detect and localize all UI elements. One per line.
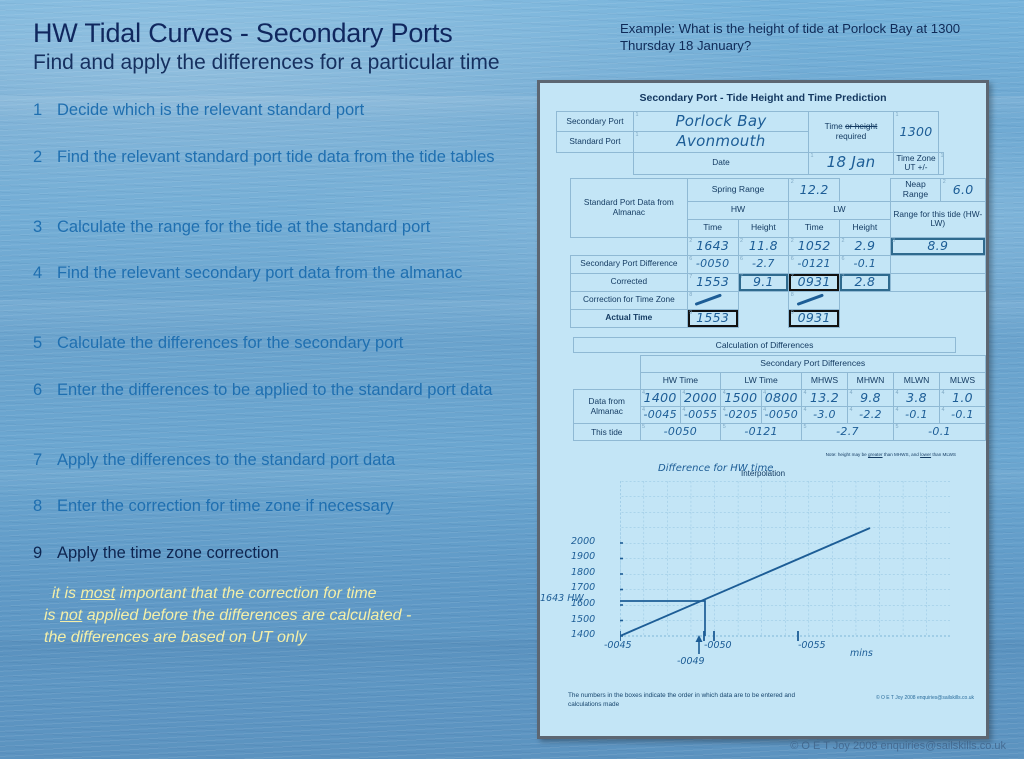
order-marker: 4: [850, 407, 853, 413]
actual-lw-time-cell[interactable]: 90931: [789, 309, 840, 327]
spring-range-label: Spring Range: [687, 179, 788, 202]
table-row: Corrected 71553 79.1 70931 72.8: [571, 273, 986, 291]
almanac-hw1: 1400: [644, 390, 677, 405]
empty-cell: [840, 309, 891, 327]
almanac-lw2-cell[interactable]: 40800: [761, 390, 801, 407]
step-8: 8 Enter the correction for time zone if …: [33, 496, 503, 516]
order-marker: 4: [942, 390, 945, 396]
step-7-text: Apply the differences to the standard po…: [57, 450, 503, 470]
step-4-number: 4: [33, 263, 51, 283]
y-tick-2000: 2000: [571, 536, 595, 547]
difference-lw-time: -0121: [797, 257, 830, 270]
slide-watermark: © O E T Joy 2008 enquiries@sailskills.co…: [790, 740, 1006, 752]
this-tide-label: This tide: [574, 424, 641, 441]
worksheet-title: Secondary Port - Tide Height and Time Pr…: [540, 92, 986, 104]
almanac-mhws-cell[interactable]: 413.2: [802, 390, 848, 407]
y-tick-1900: 1900: [571, 551, 595, 562]
caution-note: it is most important that the correction…: [52, 583, 522, 649]
spacer-cell: [571, 237, 688, 255]
step-9-number: 9: [33, 543, 51, 563]
slide-title-sub: Find and apply the differences for a par…: [33, 50, 593, 75]
slash-mark-icon: [791, 294, 837, 306]
diff-hw2-cell[interactable]: 4-0055: [680, 407, 720, 424]
empty-cell: [840, 291, 891, 309]
this-tide-hw-height-cell[interactable]: 5-2.7: [802, 424, 894, 441]
col-hw-time: HW Time: [640, 373, 721, 390]
almanac-hw2: 2000: [684, 390, 717, 405]
interpolation-svg: [620, 481, 950, 667]
standard-port-value: Avonmouth: [676, 132, 765, 150]
order-marker: 5: [723, 424, 726, 430]
order-marker: 1: [941, 153, 944, 159]
range-for-tide-value-cell[interactable]: 38.9: [890, 237, 985, 255]
height-range-note: Note: height may be greater than MHWS, a…: [770, 452, 956, 457]
almanac-lw1-cell[interactable]: 41500: [721, 390, 761, 407]
corrected-lw-time-cell[interactable]: 70931: [789, 273, 840, 291]
order-marker: 2: [689, 238, 692, 244]
diff-mlwn: -0.1: [905, 408, 928, 421]
graph-grid: [620, 481, 950, 636]
step-8-number: 8: [33, 496, 51, 516]
table-row: Secondary Port Differences: [574, 356, 986, 373]
corrected-hw-time-cell[interactable]: 71553: [687, 273, 738, 291]
order-marker: 7: [740, 274, 743, 280]
diff-mhwn: -2.2: [859, 408, 882, 421]
range-for-tide-label: Range for this tide (HW-LW): [890, 201, 985, 237]
order-marker: 1: [636, 112, 639, 118]
order-marker: 1: [896, 112, 899, 118]
step-6: 6 Enter the differences to be applied to…: [33, 380, 503, 400]
almanac-hw-time-cell[interactable]: 21643: [687, 237, 738, 255]
order-marker: 9: [791, 310, 794, 316]
date-value: 18 Jan: [827, 153, 876, 171]
standard-port-value-cell[interactable]: 1 Avonmouth: [634, 132, 809, 152]
step-9: 9 Apply the time zone correction: [33, 543, 503, 563]
order-marker: 5: [896, 424, 899, 430]
order-marker: 5: [804, 424, 807, 430]
order-marker: 5: [642, 424, 645, 430]
corrected-lw-time: 0931: [798, 274, 831, 289]
spring-range-value: 12.2: [800, 182, 829, 197]
almanac-hw1-cell[interactable]: 41400: [640, 390, 680, 407]
spacer-cell: [840, 179, 891, 202]
empty-cell: [738, 309, 789, 327]
this-tide-hw-height: -2.7: [836, 425, 859, 438]
order-marker: 2: [791, 179, 794, 185]
col-lw-time: LW Time: [721, 373, 802, 390]
diff-hw1-cell[interactable]: 4-0045: [640, 407, 680, 424]
order-marker: 4: [642, 407, 645, 413]
timezone-hw-cell[interactable]: 8: [687, 291, 738, 309]
spring-range-value-cell[interactable]: 2 12.2: [789, 179, 840, 202]
table-row: 21643 211.8 21052 22.9 38.9: [571, 237, 986, 255]
interpolation-graph: Difference for HW time 2000 1900 1800 17…: [620, 481, 950, 667]
spacer-cell: [557, 152, 634, 174]
table-row: Correction for Time Zone 8 8: [571, 291, 986, 309]
order-marker: 2: [791, 238, 794, 244]
empty-cell: [890, 309, 985, 327]
lw-height-header: Height: [840, 219, 891, 237]
almanac-label: Standard Port Data from Almanac: [571, 179, 688, 238]
order-marker: 1: [811, 153, 814, 159]
hw-height-header: Height: [738, 219, 789, 237]
date-value-cell[interactable]: 1 18 Jan: [809, 152, 894, 174]
order-marker: 4: [682, 407, 685, 413]
order-marker: 4: [763, 407, 766, 413]
step-6-text: Enter the differences to be applied to t…: [57, 380, 503, 400]
this-tide-hw: -0050: [664, 425, 697, 438]
worksheet-header-table: Secondary Port 1 Porlock Bay Time or hei…: [556, 111, 944, 175]
almanac-lw-height: 2.9: [854, 238, 875, 253]
order-marker: 7: [689, 274, 692, 280]
caution-line-2: is not applied before the differences ar…: [44, 605, 522, 627]
order-marker: 2: [740, 238, 743, 244]
time-required-value: 1300: [899, 124, 932, 139]
time-required-value-cell[interactable]: 1 1300: [894, 112, 939, 153]
x-axis-label: mins: [850, 648, 873, 659]
step-3: 3 Calculate the range for the tide at th…: [33, 217, 523, 237]
actual-lw-time: 0931: [798, 310, 831, 325]
diff-lw1-cell[interactable]: 4-0205: [721, 407, 761, 424]
table-row: This tide 5-0050 5-0121 5-2.7 5-0.1: [574, 424, 986, 441]
order-marker: 7: [791, 274, 794, 280]
almanac-lw1: 1500: [724, 390, 757, 405]
slide-title-main: HW Tidal Curves - Secondary Ports: [33, 18, 593, 48]
this-tide-lw-height-cell[interactable]: 5-0.1: [894, 424, 986, 441]
worksheet-copyright: © O E T Joy 2008 enquiries@sailskills.co…: [876, 695, 974, 701]
order-marker: 2: [943, 179, 946, 185]
step-9-text: Apply the time zone correction: [57, 543, 503, 563]
secondary-port-value-cell[interactable]: 1 Porlock Bay: [634, 112, 809, 132]
step-2-number: 2: [33, 147, 51, 167]
table-row: Date 1 18 Jan Time Zone UT +/- 1: [557, 152, 944, 174]
hw-group-label: HW: [687, 201, 788, 219]
y-tick-1400: 1400: [571, 629, 595, 640]
order-marker: 4: [682, 390, 685, 396]
time-zone-label: Time Zone UT +/-: [894, 152, 939, 174]
order-marker: 4: [642, 390, 645, 396]
corrected-lw-height-cell[interactable]: 72.8: [840, 273, 891, 291]
secondary-difference-label: Secondary Port Difference: [571, 255, 688, 273]
order-marker: 4: [896, 407, 899, 413]
step-1-text: Decide which is the relevant standard po…: [57, 100, 503, 120]
step-4: 4 Find the relevant secondary port data …: [33, 263, 473, 283]
almanac-lw2: 0800: [765, 390, 798, 405]
table-row: Secondary Port Difference 6-0050 6-2.7 6…: [571, 255, 986, 273]
order-marker: 6: [842, 256, 845, 262]
order-marker: 7: [842, 274, 845, 280]
almanac-lw-time: 1052: [798, 238, 831, 253]
corrected-hw-height-cell[interactable]: 79.1: [738, 273, 789, 291]
step-3-number: 3: [33, 217, 51, 237]
x-tick-0045: -0045: [604, 640, 632, 651]
neap-range-value: 6.0: [953, 182, 974, 197]
calculation-of-differences-title: Calculation of Differences: [573, 337, 956, 353]
diff-mlws-cell[interactable]: 4-0.1: [940, 407, 986, 424]
almanac-mlwn-cell[interactable]: 43.8: [894, 390, 940, 407]
range-for-tide-value: 8.9: [927, 238, 948, 253]
almanac-mhws: 13.2: [810, 390, 839, 405]
table-row: Standard Port Data from Almanac Spring R…: [571, 179, 986, 202]
almanac-hw-height-cell[interactable]: 211.8: [738, 237, 789, 255]
order-marker: 4: [763, 390, 766, 396]
table-row: HW Time LW Time MHWS MHWN MLWN MLWS: [574, 373, 986, 390]
difference-lw-height-cell[interactable]: 6-0.1: [840, 255, 891, 273]
empty-cell: [890, 255, 985, 273]
caution-line-1: it is most important that the correction…: [52, 583, 522, 605]
col-mhws: MHWS: [802, 373, 848, 390]
col-mlws: MLWS: [940, 373, 986, 390]
this-tide-hw-cell[interactable]: 5-0050: [640, 424, 721, 441]
difference-hw-height: -2.7: [752, 257, 775, 270]
diff-mlws: -0.1: [951, 408, 974, 421]
lw-group-label: LW: [789, 201, 890, 219]
step-6-number: 6: [33, 380, 51, 400]
hw-time-header: Time: [687, 219, 738, 237]
diff-lw2-cell[interactable]: 4-0050: [761, 407, 801, 424]
step-2-text: Find the relevant standard port tide dat…: [57, 147, 523, 167]
time-zone-value-cell[interactable]: 1: [939, 152, 944, 174]
difference-hw-height-cell[interactable]: 6-2.7: [738, 255, 789, 273]
order-marker: 4: [850, 390, 853, 396]
almanac-lw-time-cell[interactable]: 21052: [789, 237, 840, 255]
col-mlwn: MLWN: [894, 373, 940, 390]
difference-lw-time-cell[interactable]: 6-0121: [789, 255, 840, 273]
step-4-text: Find the relevant secondary port data fr…: [57, 263, 473, 283]
caution-line-3: the differences are based on UT only: [44, 627, 522, 649]
worksheet-panel: Secondary Port - Tide Height and Time Pr…: [537, 80, 989, 739]
worksheet-footnote: The numbers in the boxes indicate the or…: [568, 691, 798, 709]
order-marker: 4: [942, 407, 945, 413]
step-5-number: 5: [33, 333, 51, 353]
slide-title: HW Tidal Curves - Secondary Ports Find a…: [33, 18, 593, 75]
almanac-mhwn-cell[interactable]: 49.8: [848, 390, 894, 407]
almanac-mlwn: 3.8: [906, 390, 927, 405]
actual-time-label: Actual Time: [571, 309, 688, 327]
order-marker: 6: [689, 256, 692, 262]
table-row: Secondary Port 1 Porlock Bay Time or hei…: [557, 112, 944, 132]
empty-cell: [738, 291, 789, 309]
col-mhwn: MHWN: [848, 373, 894, 390]
this-tide-lw-cell[interactable]: 5-0121: [721, 424, 802, 441]
time-required-label: Time or height required: [809, 112, 894, 153]
order-marker: 4: [804, 407, 807, 413]
step-7-number: 7: [33, 450, 51, 470]
this-tide-lw-height: -0.1: [928, 425, 951, 438]
almanac-hw2-cell[interactable]: 42000: [680, 390, 720, 407]
neap-range-label: Neap Range: [890, 179, 941, 202]
spacer-cell: [574, 356, 641, 373]
order-marker: 3: [892, 238, 895, 244]
x-tick-0050: -0050: [704, 640, 732, 651]
date-label: Date: [634, 152, 809, 174]
diff-lw2: -0050: [765, 408, 798, 421]
corrected-hw-time: 1553: [696, 274, 729, 289]
timezone-lw-cell[interactable]: 8: [789, 291, 840, 309]
secondary-port-differences-table: Secondary Port Differences HW Time LW Ti…: [573, 355, 986, 441]
step-7: 7 Apply the differences to the standard …: [33, 450, 503, 470]
y-tick-1600: 1600: [571, 598, 595, 609]
table-row: Data from Almanac 41400 42000 41500 4080…: [574, 390, 986, 407]
order-marker: 4: [896, 390, 899, 396]
diff-mhws-cell[interactable]: 4-3.0: [802, 407, 848, 424]
table-row: Actual Time 91553 90931: [571, 309, 986, 327]
diff-hw2: -0055: [684, 408, 717, 421]
y-tick-1500: 1500: [571, 614, 595, 625]
order-marker: 4: [723, 390, 726, 396]
step-5-text: Calculate the differences for the second…: [57, 333, 503, 353]
timezone-correction-label: Correction for Time Zone: [571, 291, 688, 309]
order-marker: 6: [740, 256, 743, 262]
readoff-arrow-icon: [696, 635, 703, 654]
almanac-lw-height-cell[interactable]: 22.9: [840, 237, 891, 255]
diff-mlwn-cell[interactable]: 4-0.1: [894, 407, 940, 424]
order-marker: 4: [804, 390, 807, 396]
secondary-port-value: Porlock Bay: [675, 112, 766, 130]
step-1: 1 Decide which is the relevant standard …: [33, 100, 503, 120]
spacer-cell: [574, 373, 641, 390]
step-2: 2 Find the relevant standard port tide d…: [33, 147, 523, 167]
order-marker: 9: [689, 310, 692, 316]
y-tick-1800: 1800: [571, 567, 595, 578]
almanac-mlws-cell[interactable]: 41.0: [940, 390, 986, 407]
diff-hw1: -0045: [643, 408, 676, 421]
diff-lw1: -0205: [724, 408, 757, 421]
step-1-number: 1: [33, 100, 51, 120]
difference-lw-height: -0.1: [853, 257, 876, 270]
this-tide-lw: -0121: [744, 425, 777, 438]
neap-range-value-cell[interactable]: 2 6.0: [941, 179, 986, 202]
actual-hw-time-cell[interactable]: 91553: [687, 309, 738, 327]
secondary-port-label: Secondary Port: [557, 112, 634, 132]
lw-time-header: Time: [789, 219, 840, 237]
empty-cell: [890, 291, 985, 309]
order-marker: 6: [791, 256, 794, 262]
time-required-strikethrough: or height: [845, 121, 877, 131]
result-annotation: -0049: [677, 656, 705, 667]
example-question: Example: What is the height of tide at P…: [620, 20, 970, 54]
diff-mhws: -3.0: [813, 408, 836, 421]
order-marker: 1: [636, 132, 639, 138]
standard-port-label: Standard Port: [557, 132, 634, 152]
data-from-almanac-label: Data from Almanac: [574, 390, 641, 424]
almanac-hw-height: 11.8: [749, 238, 778, 253]
empty-cell: [890, 273, 985, 291]
graph-annotation: Difference for HW time: [658, 463, 773, 474]
step-8-text: Enter the correction for time zone if ne…: [57, 496, 503, 516]
actual-hw-time: 1553: [696, 310, 729, 325]
slash-mark-icon: [690, 294, 736, 306]
order-marker: 4: [723, 407, 726, 413]
almanac-mlws: 1.0: [952, 390, 973, 405]
almanac-mhwn: 9.8: [860, 390, 881, 405]
step-5: 5 Calculate the differences for the seco…: [33, 333, 503, 353]
corrected-label: Corrected: [571, 273, 688, 291]
step-3-text: Calculate the range for the tide at the …: [57, 217, 523, 237]
order-marker: 2: [842, 238, 845, 244]
standard-port-data-table: Standard Port Data from Almanac Spring R…: [570, 178, 986, 328]
spd-title: Secondary Port Differences: [640, 356, 986, 373]
y-tick-1700: 1700: [571, 582, 595, 593]
x-tick-0055: -0055: [798, 640, 826, 651]
almanac-hw-time: 1643: [696, 238, 729, 253]
corrected-lw-height: 2.8: [854, 274, 875, 289]
difference-hw-time-cell[interactable]: 6-0050: [687, 255, 738, 273]
difference-hw-time: -0050: [696, 257, 729, 270]
diff-mhwn-cell[interactable]: 4-2.2: [848, 407, 894, 424]
corrected-hw-height: 9.1: [753, 274, 774, 289]
